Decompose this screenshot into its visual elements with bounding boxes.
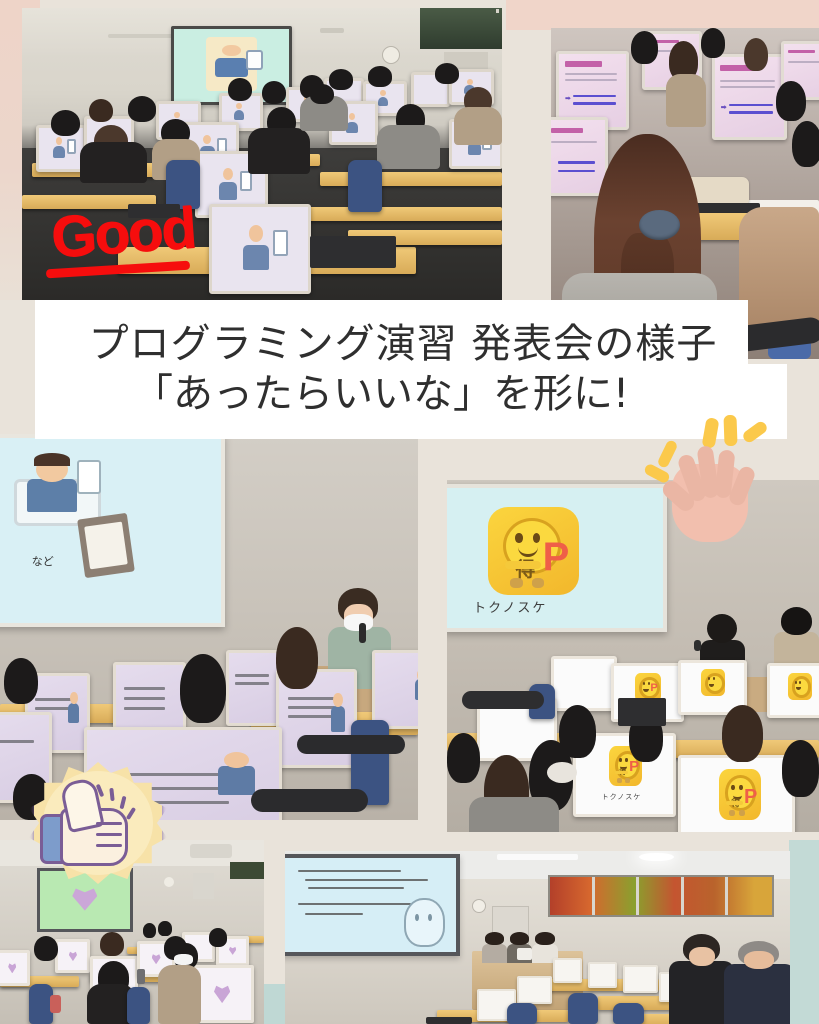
presenter-left xyxy=(482,932,507,963)
projector-screen xyxy=(285,854,460,955)
window xyxy=(230,862,264,879)
app-name-caption: トクノスケ xyxy=(473,597,547,616)
ceiling-beam-2 xyxy=(320,28,344,33)
background-teal-accent-right xyxy=(789,840,819,1024)
poster-canvas: Good xyxy=(0,0,819,1024)
ceiling-light xyxy=(497,854,578,859)
screen-caption: など xyxy=(32,553,54,569)
ceiling-projector xyxy=(190,844,232,859)
good-annotation: Good xyxy=(49,199,196,267)
monitor-app-caption: トクノスケ xyxy=(602,792,642,802)
face-mask xyxy=(174,954,192,965)
attendee-second xyxy=(724,941,790,1024)
thumbs-up-icon xyxy=(34,762,162,884)
photo-manner-slide xyxy=(285,851,790,1024)
photo-classroom-good: Good xyxy=(22,8,502,300)
tokunosuke-app-icon: 得 P xyxy=(488,507,579,594)
wall-clock-icon xyxy=(164,877,174,887)
tumbler xyxy=(137,969,145,984)
p-letter: P xyxy=(543,537,570,575)
title-line-1: プログラミング演習 発表会の様子 xyxy=(89,321,718,368)
door xyxy=(193,873,214,899)
window-autumn xyxy=(548,875,774,917)
scrunchie xyxy=(639,210,679,240)
sanitizer-bottle xyxy=(517,948,532,960)
waving-hand-icon xyxy=(638,412,780,547)
water-bottle xyxy=(50,995,61,1013)
wall-clock-icon xyxy=(382,46,400,64)
background-pink-top-strip xyxy=(506,0,819,30)
scrunchie xyxy=(547,762,577,783)
title-line-2: 「あったらいいな」を形に! xyxy=(133,371,629,418)
window xyxy=(420,8,502,49)
projector-screen: など xyxy=(0,434,225,627)
projector-screen: 得 P トクノスケ xyxy=(447,484,667,633)
